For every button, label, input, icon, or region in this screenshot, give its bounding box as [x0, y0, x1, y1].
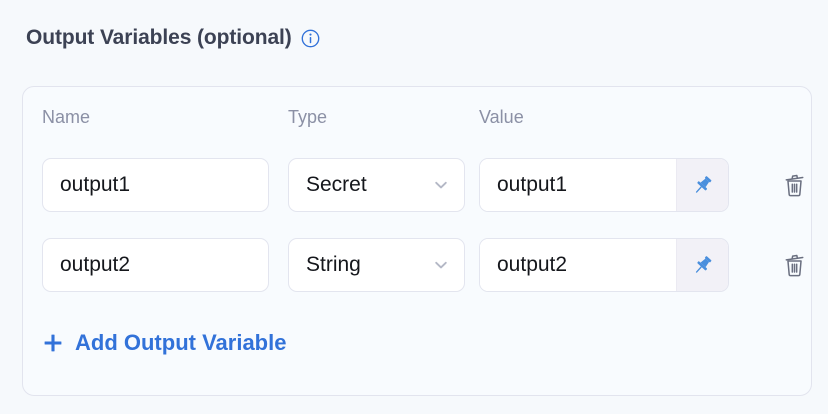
delete-row-button[interactable]	[775, 166, 813, 204]
chevron-down-icon	[430, 174, 452, 196]
info-circle-icon[interactable]	[301, 29, 320, 48]
column-header-name: Name	[42, 107, 90, 128]
variable-value-group: output1	[479, 158, 729, 212]
pin-icon[interactable]	[676, 159, 728, 211]
column-header-type: Type	[288, 107, 327, 128]
variable-type-select[interactable]: String	[288, 238, 465, 292]
output-variables-panel: Output Variables (optional) Name Type Va…	[0, 0, 828, 414]
variable-type-value: String	[306, 253, 430, 277]
page-title: Output Variables (optional)	[26, 26, 292, 50]
variable-name-input[interactable]: output1	[42, 158, 269, 212]
output-variables-card: Name Type Value output1 Secret output	[22, 86, 812, 396]
section-header: Output Variables (optional)	[26, 26, 320, 50]
table-row: output1 Secret output1	[23, 158, 811, 212]
plus-icon	[42, 332, 64, 354]
output-variables-list: output1 Secret output1	[23, 158, 811, 318]
delete-row-button[interactable]	[775, 246, 813, 284]
add-output-variable-button[interactable]: Add Output Variable	[42, 330, 286, 356]
variable-name-input[interactable]: output2	[42, 238, 269, 292]
variable-value-group: output2	[479, 238, 729, 292]
column-header-value: Value	[479, 107, 524, 128]
variable-type-select[interactable]: Secret	[288, 158, 465, 212]
pin-icon[interactable]	[676, 239, 728, 291]
table-header-row: Name Type Value	[23, 107, 811, 133]
variable-value-input[interactable]: output1	[480, 159, 676, 211]
variable-type-value: Secret	[306, 173, 430, 197]
chevron-down-icon	[430, 254, 452, 276]
add-output-variable-label: Add Output Variable	[75, 330, 286, 356]
variable-value-input[interactable]: output2	[480, 239, 676, 291]
table-row: output2 String output2	[23, 238, 811, 292]
